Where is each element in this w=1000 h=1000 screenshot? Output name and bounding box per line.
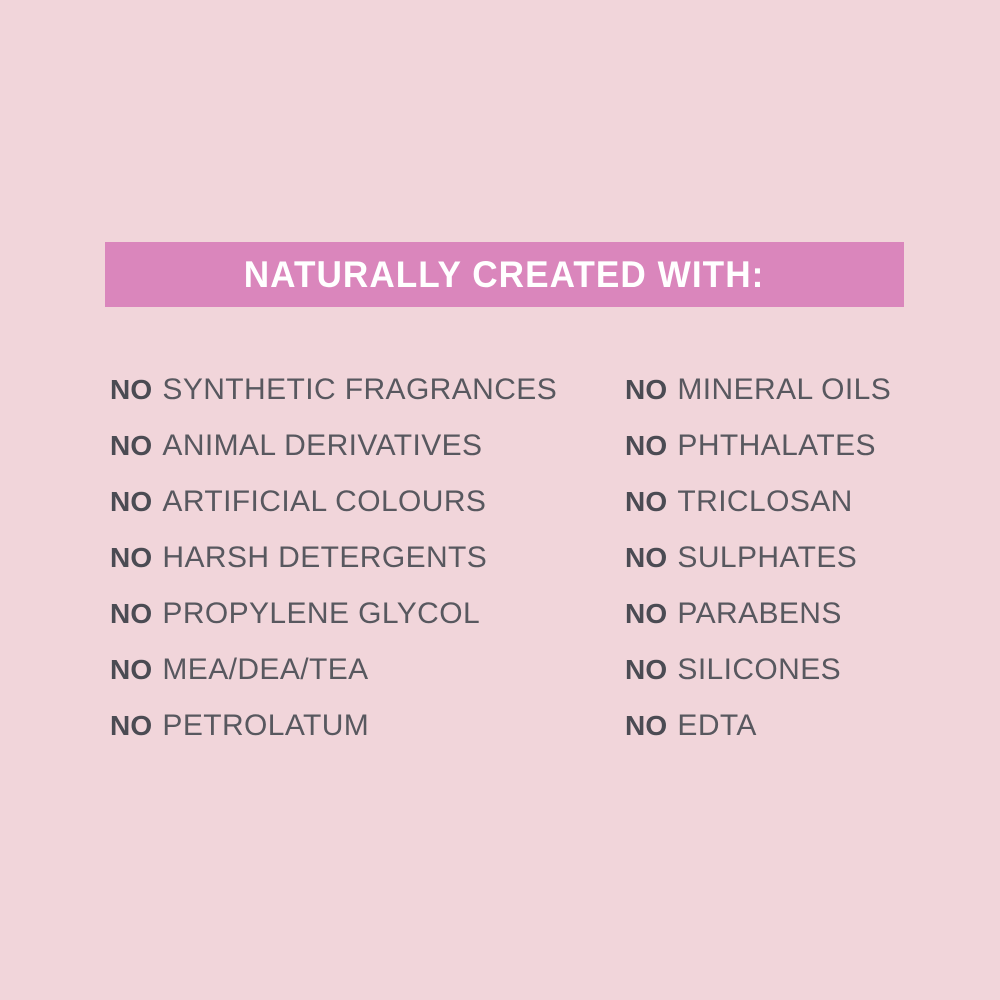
list-item-label: ARTIFICIAL COLOURS (162, 485, 486, 519)
no-prefix: NO (625, 430, 667, 462)
no-prefix: NO (625, 374, 667, 406)
no-prefix: NO (625, 710, 667, 742)
no-prefix: NO (110, 430, 152, 462)
list-item-label: SULPHATES (677, 541, 857, 575)
list-item-label: PETROLATUM (162, 709, 369, 743)
list-item-label: EDTA (677, 709, 756, 743)
banner-title: NATURALLY CREATED WITH: (244, 256, 765, 293)
list-item-label: HARSH DETERGENTS (162, 541, 487, 575)
list-item: NO TRICLOSAN (625, 474, 975, 530)
list-item-label: PHTHALATES (677, 429, 876, 463)
list-item-label: SILICONES (677, 653, 841, 687)
list-item: NO ANIMAL DERIVATIVES (110, 418, 610, 474)
exclusion-list: NO SYNTHETIC FRAGRANCES NO ANIMAL DERIVA… (0, 362, 1000, 754)
list-item: NO SYNTHETIC FRAGRANCES (110, 362, 610, 418)
poster-root: NATURALLY CREATED WITH: NO SYNTHETIC FRA… (0, 0, 1000, 1000)
list-item: NO HARSH DETERGENTS (110, 530, 610, 586)
list-item: NO EDTA (625, 698, 975, 754)
list-item: NO MEA/DEA/TEA (110, 642, 610, 698)
list-item: NO PETROLATUM (110, 698, 610, 754)
list-item: NO PARABENS (625, 586, 975, 642)
no-prefix: NO (110, 598, 152, 630)
list-item: NO MINERAL OILS (625, 362, 975, 418)
list-item: NO ARTIFICIAL COLOURS (110, 474, 610, 530)
list-item-label: PARABENS (677, 597, 841, 631)
list-column-right: NO MINERAL OILS NO PHTHALATES NO TRICLOS… (625, 362, 975, 754)
no-prefix: NO (110, 486, 152, 518)
list-item-label: ANIMAL DERIVATIVES (162, 429, 482, 463)
no-prefix: NO (625, 654, 667, 686)
list-item: NO PHTHALATES (625, 418, 975, 474)
no-prefix: NO (110, 542, 152, 574)
no-prefix: NO (625, 542, 667, 574)
list-item-label: PROPYLENE GLYCOL (162, 597, 480, 631)
no-prefix: NO (110, 374, 152, 406)
no-prefix: NO (625, 598, 667, 630)
no-prefix: NO (625, 486, 667, 518)
list-item-label: TRICLOSAN (677, 485, 852, 519)
list-item-label: MEA/DEA/TEA (162, 653, 368, 687)
list-item: NO PROPYLENE GLYCOL (110, 586, 610, 642)
list-item: NO SILICONES (625, 642, 975, 698)
list-item: NO SULPHATES (625, 530, 975, 586)
list-column-left: NO SYNTHETIC FRAGRANCES NO ANIMAL DERIVA… (110, 362, 610, 754)
no-prefix: NO (110, 654, 152, 686)
list-item-label: MINERAL OILS (677, 373, 891, 407)
list-item-label: SYNTHETIC FRAGRANCES (162, 373, 557, 407)
no-prefix: NO (110, 710, 152, 742)
banner: NATURALLY CREATED WITH: (105, 242, 904, 307)
